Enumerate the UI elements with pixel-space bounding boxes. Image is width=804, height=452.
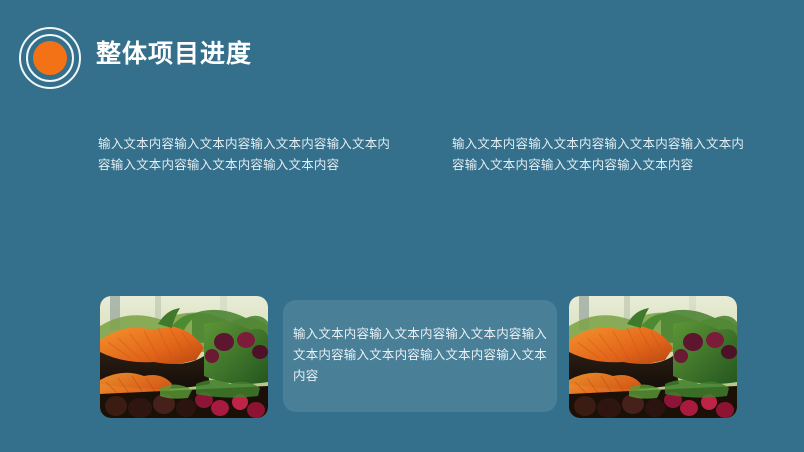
vegetable-market-photo-right	[569, 296, 737, 418]
right-paragraph: 输入文本内容输入文本内容输入文本内容输入文本内容输入文本内容输入文本内容输入文本…	[452, 134, 748, 176]
photo-right-graphic	[569, 296, 737, 418]
slide-header: 整体项目进度	[0, 0, 804, 100]
concentric-circles-icon	[18, 26, 82, 90]
slide-canvas: 整体项目进度 输入文本内容输入文本内容输入文本内容输入文本内容输入文本内容输入文…	[0, 0, 804, 452]
vegetable-market-photo-left	[100, 296, 268, 418]
left-paragraph: 输入文本内容输入文本内容输入文本内容输入文本内容输入文本内容输入文本内容输入文本…	[98, 134, 394, 176]
page-title: 整体项目进度	[96, 37, 252, 71]
info-card-paragraph: 输入文本内容输入文本内容输入文本内容输入文本内容输入文本内容输入文本内容输入文本…	[293, 324, 547, 387]
info-card: 输入文本内容输入文本内容输入文本内容输入文本内容输入文本内容输入文本内容输入文本…	[283, 300, 557, 412]
logo-center-dot	[33, 41, 67, 75]
photo-left-graphic	[100, 296, 268, 418]
